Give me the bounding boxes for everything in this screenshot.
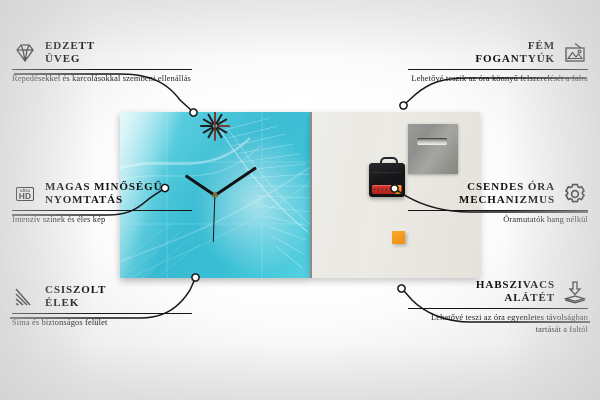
callout-rule: [408, 308, 588, 309]
callout-habszivacs-alatet[interactable]: HABSZIVACSALÁTÉT Lehetővé teszi az óra e…: [408, 279, 588, 335]
callout-title: MAGAS MINŐSÉGŰNYOMTATÁS: [45, 181, 162, 206]
callout-fem-fogantyuk[interactable]: FÉMFOGANTYÚK Lehetővé teszik az óra könn…: [408, 40, 588, 85]
clock-movement: [369, 163, 405, 197]
connector-dot-fem-fogantyuk: [400, 102, 407, 109]
callout-title: CSENDES ÓRAMECHANIZMUS: [459, 181, 555, 206]
battery: [372, 185, 402, 194]
clock-center-cap: [213, 193, 218, 198]
movement-seam: [373, 172, 401, 173]
foam-pad-arrow-icon: [562, 279, 588, 305]
callout-magas-minosegu-nyomtatas[interactable]: ultra HD MAGAS MINŐSÉGŰNYOMTATÁS Intenzí…: [12, 181, 192, 226]
callout-header: CSISZOLTÉLEK: [12, 284, 192, 310]
callout-title: CSISZOLTÉLEK: [45, 284, 106, 309]
callout-subtitle: Lehetővé teszik az óra könnyű felszerelé…: [408, 73, 588, 84]
metal-hanger-plate: [408, 124, 458, 174]
movement-hanging-loop: [380, 157, 398, 168]
callout-title: FÉMFOGANTYÚK: [475, 40, 555, 65]
connector-dot-habszivacs: [398, 285, 405, 292]
callout-rule: [12, 313, 192, 314]
callout-header: ultra HD MAGAS MINŐSÉGŰNYOMTATÁS: [12, 181, 192, 207]
callout-rule: [12, 69, 192, 70]
polished-edges-icon: [12, 284, 38, 310]
callout-subtitle: Óramutatók hang nélkül: [408, 214, 588, 225]
gear-icon: [562, 181, 588, 207]
callout-csiszolt-elek[interactable]: CSISZOLTÉLEK Sima és biztonságos felület: [12, 284, 192, 329]
clock-second-hand: [213, 195, 216, 242]
ultra-hd-icon: ultra HD: [12, 181, 38, 207]
callout-subtitle: Sima és biztonságos felület: [12, 317, 192, 328]
callout-csendes-ora-mechanizmus[interactable]: CSENDES ÓRAMECHANIZMUS Óramutatók hang n…: [408, 181, 588, 226]
callout-header: CSENDES ÓRAMECHANIZMUS: [408, 181, 588, 207]
clock-minute-hand: [214, 166, 256, 196]
callout-rule: [408, 69, 588, 70]
callout-header: FÉMFOGANTYÚK: [408, 40, 588, 66]
callout-subtitle: Repedésekkel és karcolásokkal szembeni e…: [12, 73, 192, 84]
ultra-hd-icon-main-text: HD: [19, 192, 32, 200]
callout-title: EDZETTÜVEG: [45, 40, 95, 65]
infographic-canvas: EDZETTÜVEG Repedésekkel és karcolásokkal…: [0, 0, 600, 400]
callout-edzett-uveg[interactable]: EDZETTÜVEG Repedésekkel és karcolásokkal…: [12, 40, 192, 85]
callout-subtitle: Intenzív színek és éles kép: [12, 214, 192, 225]
battery-label: [374, 188, 394, 191]
callout-rule: [12, 210, 192, 211]
callout-header: HABSZIVACSALÁTÉT: [408, 279, 588, 305]
picture-hanger-icon: [562, 40, 588, 66]
callout-title: HABSZIVACSALÁTÉT: [476, 279, 555, 304]
foam-spacer-pad: [392, 231, 405, 244]
battery-positive-terminal: [395, 185, 401, 194]
diamond-icon: [12, 40, 38, 66]
callout-rule: [408, 210, 588, 211]
callout-subtitle: Lehetővé teszi az óra egyenletes távolsá…: [408, 312, 588, 335]
callout-header: EDZETTÜVEG: [12, 40, 192, 66]
hanger-slot: [417, 138, 447, 145]
